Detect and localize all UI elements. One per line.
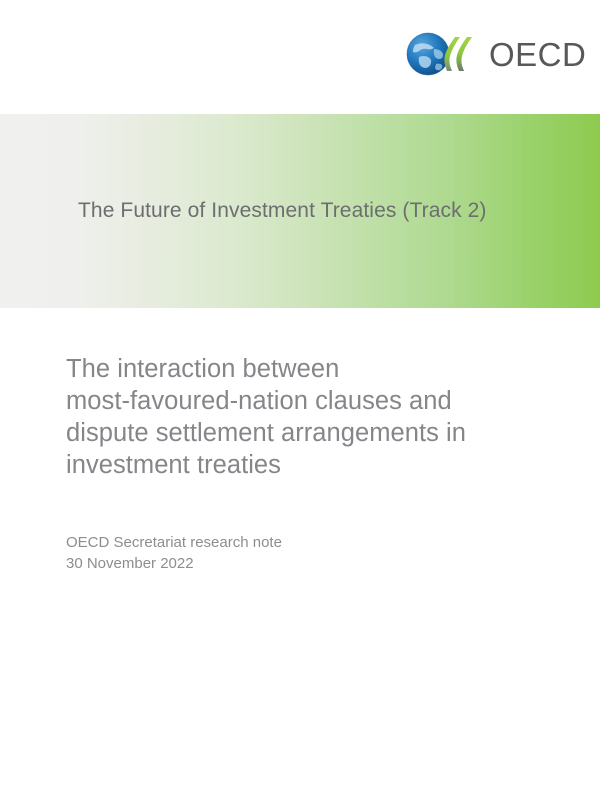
document-cover-page: OECD The Future of Investment Treaties (… — [0, 0, 600, 800]
page-title: The interaction between most-favoured-na… — [66, 353, 536, 481]
series-title: The Future of Investment Treaties (Track… — [78, 114, 578, 308]
page-title-line-2: most-favoured-nation clauses and — [66, 385, 536, 417]
series-banner: The Future of Investment Treaties (Track… — [0, 114, 600, 308]
document-meta: OECD Secretariat research note 30 Novemb… — [66, 532, 536, 574]
page-title-line-3: dispute settlement arrangements in — [66, 417, 536, 449]
document-type: OECD Secretariat research note — [66, 532, 536, 553]
page-title-line-4: investment treaties — [66, 449, 536, 481]
oecd-wordmark: OECD — [489, 38, 586, 71]
page-header: OECD — [0, 0, 600, 114]
document-date: 30 November 2022 — [66, 553, 536, 574]
oecd-logo: OECD — [406, 31, 586, 77]
page-title-line-1: The interaction between — [66, 353, 536, 385]
oecd-globe-chevrons-icon — [406, 31, 488, 77]
